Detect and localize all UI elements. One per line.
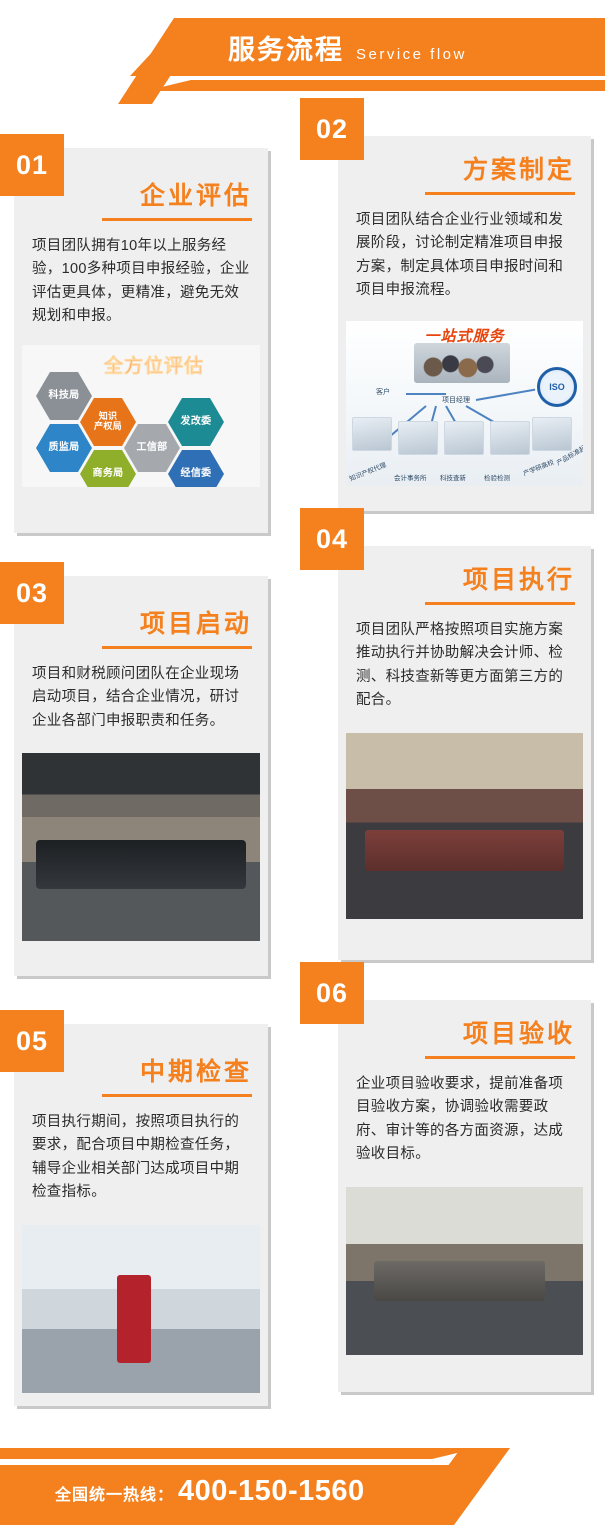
step-title-06: 项目验收 [338, 1014, 591, 1050]
step-title-04: 项目执行 [338, 560, 591, 596]
step-number-badge-02: 02 [300, 98, 364, 160]
step-card-04[interactable]: 04 项目执行 项目团队严格按照项目实施方案推动执行并协助解决会计师、检测、科技… [338, 546, 591, 960]
onestop-bottom-label-5: 产学研高校 [521, 456, 555, 477]
page-footer: 全国统一热线： 400-150-1560 [0, 1420, 605, 1538]
midterm-inspection-site-visit-photo [22, 1225, 260, 1393]
hotline-group: 全国统一热线： 400-150-1560 [55, 1475, 365, 1508]
step-number-badge-05: 05 [0, 1010, 64, 1072]
hotline-number[interactable]: 400-150-1560 [178, 1475, 365, 1508]
onestop-bottom-label-3: 科技查新 [440, 472, 466, 482]
step-body-04: 项目团队严格按照项目实施方案推动执行并协助解决会计师、检测、科技查新等更方面第三… [338, 605, 591, 723]
step-number-badge-06: 06 [300, 962, 364, 1024]
onestop-node-5 [532, 417, 572, 451]
header-banner-underline [145, 80, 605, 91]
step-body-03: 项目和财税顾问团队在企业现场启动项目，结合企业情况，研讨企业各部门申报职责和任务… [14, 649, 268, 743]
step-card-03[interactable]: 03 项目启动 项目和财税顾问团队在企业现场启动项目，结合企业情况，研讨企业各部… [14, 576, 268, 976]
iso-seal-icon: ISO [537, 367, 577, 407]
step-card-02[interactable]: 02 方案制定 项目团队结合企业行业领域和发展阶段，讨论制定精准项目申报方案，制… [338, 136, 591, 511]
step-card-01[interactable]: 01 企业评估 项目团队拥有10年以上服务经验，100多种项目申报经验，企业评估… [14, 148, 268, 533]
onestop-bottom-label-1: 知识产权代理 [348, 459, 388, 483]
hex-node-zhijian: 质监局 [36, 423, 92, 473]
onestop-bottom-label-4: 检验检测 [484, 472, 510, 482]
step-number-badge-03: 03 [0, 562, 64, 624]
hotline-label: 全国统一热线： [55, 1481, 174, 1505]
hex-node-fagai: 发改委 [168, 397, 224, 447]
onestop-node-4 [490, 421, 530, 455]
step-number-badge-04: 04 [300, 508, 364, 570]
onestop-label-customer: 客户 [376, 387, 390, 397]
hex-node-gongxin: 工信部 [124, 423, 180, 473]
onestop-node-1 [352, 417, 392, 451]
hex-node-zhishi: 知识 产权局 [80, 397, 136, 447]
step-title-02: 方案制定 [338, 150, 591, 186]
hex-node-jingxin: 经信委 [168, 449, 224, 487]
onestop-team-photo [414, 343, 510, 383]
step-number-badge-01: 01 [0, 134, 64, 196]
project-kickoff-meeting-photo [22, 753, 260, 941]
onestop-bottom-label-2: 会计事务所 [394, 472, 427, 482]
header-title-cn: 服务流程 [228, 28, 344, 67]
hex-node-keji: 科技局 [36, 371, 92, 421]
step-card-06[interactable]: 06 项目验收 企业项目验收要求，提前准备项目验收方案，协调验收需要政府、审计等… [338, 1000, 591, 1392]
onestop-node-2 [398, 421, 438, 455]
project-acceptance-conference-photo [346, 1187, 583, 1355]
footer-banner-underline [0, 1448, 478, 1459]
hex-diagram-title: 全方位评估 [104, 351, 204, 378]
step-body-01: 项目团队拥有10年以上服务经验，100多种项目申报经验，企业评估更具体，更精准，… [14, 221, 268, 339]
header-title-group: 服务流程 Service flow [228, 28, 467, 67]
project-execution-working-photo [346, 733, 583, 919]
header-title-en: Service flow [356, 46, 467, 63]
onestop-node-3 [444, 421, 484, 455]
step-body-02: 项目团队结合企业行业领域和发展阶段，讨论制定精准项目申报方案，制定具体项目申报时… [338, 195, 591, 313]
step-body-05: 项目执行期间，按照项目执行的要求，配合项目中期检查任务，辅导企业相关部门达成项目… [14, 1097, 268, 1215]
hex-node-shangwu: 商务局 [80, 449, 136, 487]
step-card-05[interactable]: 05 中期检查 项目执行期间，按照项目执行的要求，配合项目中期检查任务，辅导企业… [14, 1024, 268, 1406]
page-header: 服务流程 Service flow [0, 0, 605, 105]
one-stop-service-diagram: 一站式服务 客户 项目经理 ISO 知识产权代理 会计事务所 科技查新 检验检测… [346, 321, 583, 486]
step-body-06: 企业项目验收要求，提前准备项目验收方案，协调验收需要政府、审计等的各方面资源，达… [338, 1059, 591, 1177]
all-round-assessment-diagram: 全方位评估 科技局 知识 产权局 质监局 工信部 商务局 发改委 经信委 [22, 345, 260, 487]
onestop-label-manager: 项目经理 [442, 395, 470, 405]
